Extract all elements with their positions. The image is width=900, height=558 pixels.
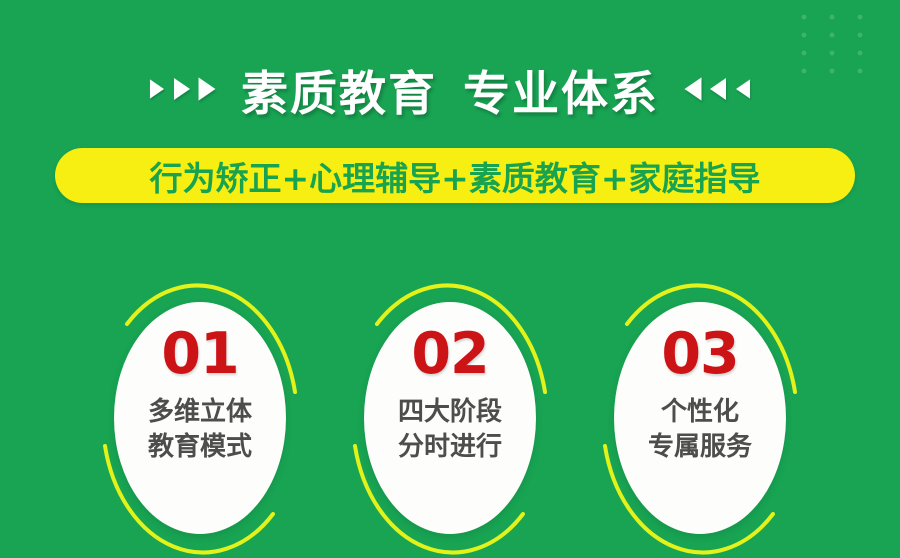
feature-number: 01 <box>161 326 238 383</box>
feature-card-01: 01 多维立体 教育模式 <box>95 280 305 558</box>
triangle-right-icon-group <box>149 78 215 100</box>
triangle-right-icon <box>174 78 190 100</box>
triangle-left-icon <box>736 79 750 98</box>
feature-line-2: 专属服务 <box>648 434 752 460</box>
feature-bubble: 01 多维立体 教育模式 <box>114 302 286 534</box>
triangle-right-icon <box>199 77 216 100</box>
feature-card-03: 03 个性化 专属服务 <box>595 280 805 558</box>
triangle-left-icon <box>685 77 702 100</box>
feature-number: 02 <box>411 326 488 383</box>
feature-text: 个性化 专属服务 <box>648 399 752 460</box>
feature-line-2: 分时进行 <box>398 434 502 460</box>
feature-line-1: 多维立体 <box>148 399 252 425</box>
feature-line-1: 四大阶段 <box>398 399 502 425</box>
feature-number: 03 <box>661 326 738 383</box>
feature-card-list: 01 多维立体 教育模式 02 四大阶段 分时进行 <box>0 280 900 558</box>
headline-row: 素质教育专业体系 <box>0 55 900 123</box>
subtitle-text: 行为矫正+心理辅导+素质教育+家庭指导 <box>150 152 761 200</box>
triangle-right-icon <box>150 79 164 98</box>
feature-line-1: 个性化 <box>661 399 739 425</box>
triangle-left-icon-group <box>685 78 751 100</box>
triangle-left-icon <box>710 78 726 100</box>
feature-bubble: 03 个性化 专属服务 <box>614 302 786 534</box>
feature-bubble: 02 四大阶段 分时进行 <box>364 302 536 534</box>
headline-left: 素质教育 <box>241 67 437 122</box>
subtitle-pill: 行为矫正+心理辅导+素质教育+家庭指导 <box>55 148 855 203</box>
feature-text: 四大阶段 分时进行 <box>398 399 502 460</box>
headline-right: 专业体系 <box>463 67 659 122</box>
page-title: 素质教育专业体系 <box>241 55 659 124</box>
promo-banner: 素质教育专业体系 行为矫正+心理辅导+素质教育+家庭指导 01 多维立体 教育模… <box>0 0 900 558</box>
feature-line-2: 教育模式 <box>148 434 252 460</box>
feature-card-02: 02 四大阶段 分时进行 <box>345 280 555 558</box>
feature-text: 多维立体 教育模式 <box>148 399 252 460</box>
